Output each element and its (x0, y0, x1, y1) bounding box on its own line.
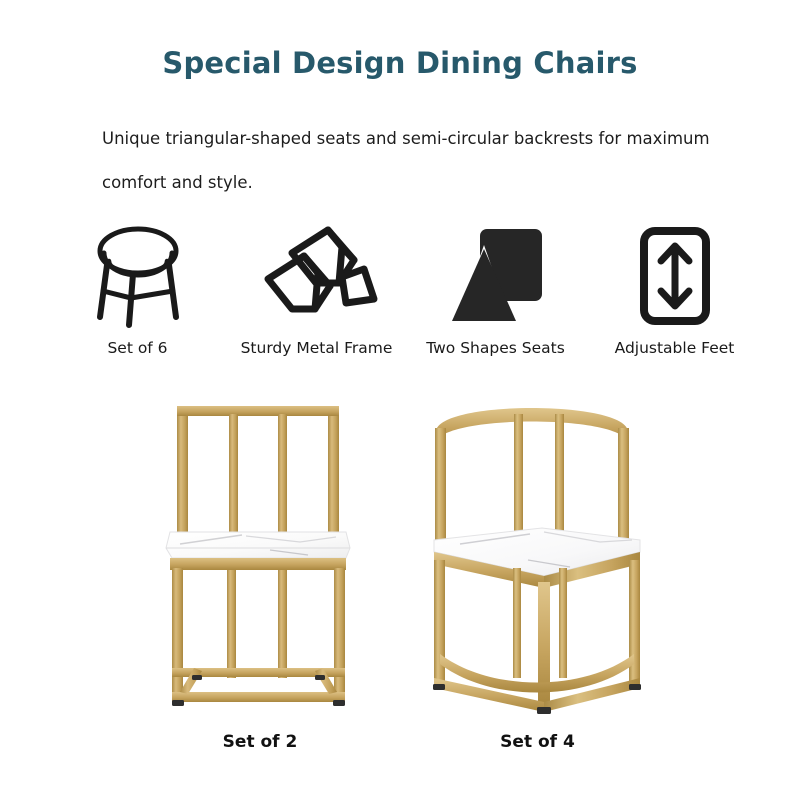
two-shapes-icon (444, 218, 548, 333)
product-captions: Set of 2 Set of 4 (0, 732, 800, 762)
metal-ingots-icon (254, 218, 380, 333)
page-title: Special Design Dining Chairs (0, 46, 800, 80)
page-subtitle: Unique triangular-shaped seats and semi-… (102, 117, 712, 205)
caption-set-of-4: Set of 4 (450, 732, 625, 752)
product-image-square-back-chair (150, 392, 370, 732)
stool-icon (85, 218, 191, 333)
product-images (0, 392, 800, 732)
feature-label: Sturdy Metal Frame (241, 339, 393, 357)
feature-list: Set of 6 Sturdy Metal Frame (48, 218, 764, 383)
caption-set-of-2: Set of 2 (180, 732, 340, 752)
feature-label: Adjustable Feet (615, 339, 735, 357)
product-image-curved-back-chair (420, 392, 655, 732)
feature-item-sturdy-metal-frame: Sturdy Metal Frame (227, 218, 406, 357)
feature-item-adjustable-feet: Adjustable Feet (585, 218, 764, 357)
adjustable-feet-icon (626, 218, 724, 333)
feature-item-set-of-6: Set of 6 (48, 218, 227, 357)
feature-label: Two Shapes Seats (426, 339, 565, 357)
feature-item-two-shapes-seats: Two Shapes Seats (406, 218, 585, 357)
feature-label: Set of 6 (107, 339, 167, 357)
product-infographic: Special Design Dining Chairs Unique tria… (0, 0, 800, 800)
